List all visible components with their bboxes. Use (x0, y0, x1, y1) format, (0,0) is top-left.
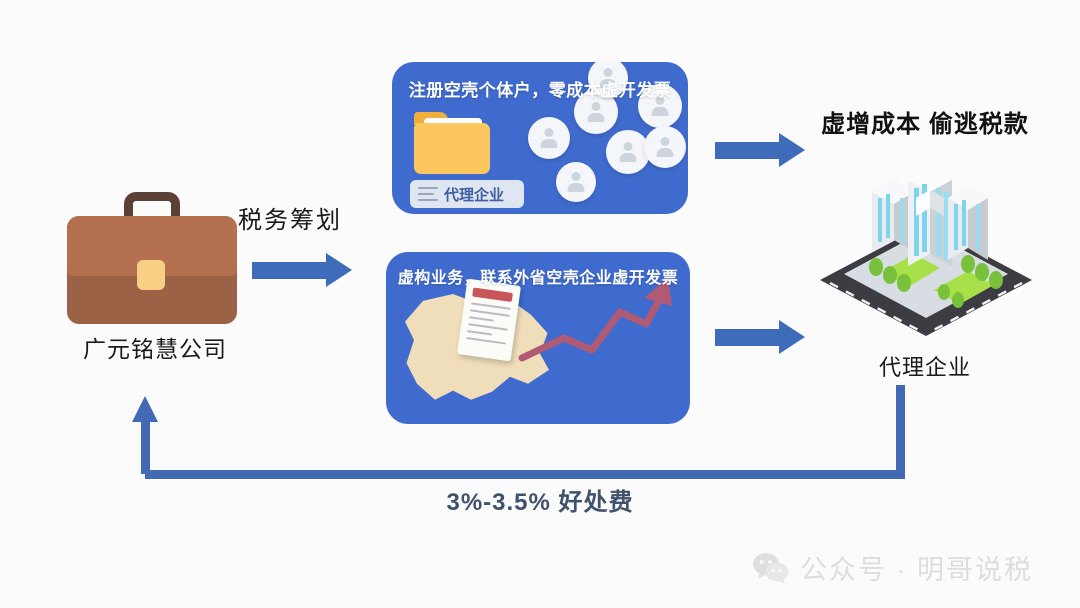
folder-front (414, 123, 490, 174)
agent-company-tag-label: 代理企业 (444, 184, 504, 205)
arrow-head (779, 320, 805, 354)
arrow-shaft (252, 262, 326, 279)
loop-segment-bottom (145, 470, 905, 479)
person-avatar-icon (606, 130, 650, 174)
person-avatar-icon (528, 117, 570, 159)
arrow-head (326, 253, 352, 287)
arrow-up-icon (132, 396, 158, 422)
briefcase-lock (137, 260, 165, 290)
watermark-text: 公众号 · 明哥说税 (800, 548, 1033, 587)
loop-segment-left (141, 418, 150, 474)
folder-icon (414, 112, 490, 174)
agent-company-tag: 代理企业 (410, 180, 524, 208)
arrow-right-icon (252, 253, 352, 287)
list-lines-icon (418, 187, 438, 201)
card-shell-registration: 注册空壳个体户，零成本虚开发票 (392, 62, 688, 214)
card-title: 虚构业务，联系外省空壳企业虚开发票 (386, 264, 690, 288)
source-company-caption: 广元铭慧公司 (50, 330, 260, 364)
document-line (471, 302, 511, 310)
card-fabricated-business: 虚构业务，联系外省空壳企业虚开发票 (386, 252, 690, 424)
arrow-shaft (715, 142, 779, 159)
document-line (467, 330, 492, 335)
wechat-icon (752, 552, 790, 584)
planning-step-label: 税务筹划 (238, 200, 342, 235)
card-title: 注册空壳个体户，零成本虚开发票 (392, 76, 688, 101)
isometric-city-icon (816, 140, 1036, 340)
document-line (466, 337, 506, 345)
fee-label: 3%-3.5% 好处费 (340, 482, 740, 517)
document-icon (457, 279, 521, 362)
document-line (470, 309, 510, 317)
arrow-right-icon (715, 320, 805, 354)
growth-arrow-icon (516, 272, 676, 382)
document-line (468, 323, 508, 331)
arrow-shaft (715, 329, 779, 346)
watermark: 公众号 · 明哥说税 (752, 548, 1033, 587)
document-line (469, 316, 494, 321)
target-company-caption: 代理企业 (820, 350, 1030, 382)
target-company-title: 虚增成本 偷逃税款 (790, 104, 1060, 139)
person-avatar-icon (644, 126, 686, 168)
document-header-bar (472, 288, 513, 302)
person-avatar-icon (556, 162, 596, 202)
diagram-canvas: 广元铭慧公司 税务筹划 注册空壳个体户，零成本虚开发票 (0, 0, 1080, 608)
loop-segment-right (896, 385, 905, 475)
